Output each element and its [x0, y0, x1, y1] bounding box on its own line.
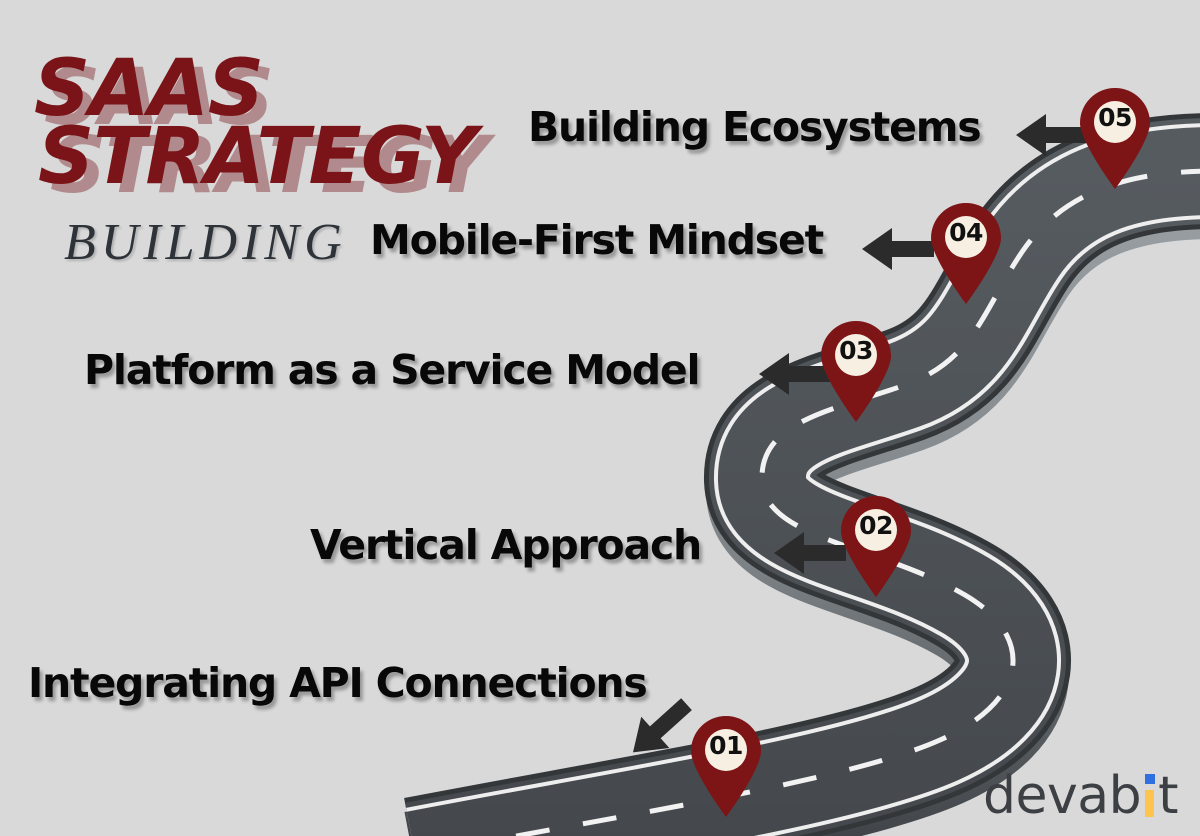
map-pin-shape-04: [928, 201, 1004, 305]
brand-stem-icon: [1145, 790, 1154, 817]
brand-text-after: t: [1158, 770, 1178, 822]
milestone-label-02: Vertical Approach: [310, 525, 701, 566]
milestone-label-04: Mobile-First Mindset: [370, 220, 823, 261]
title-subtitle: BUILDING: [64, 217, 347, 269]
brand-letter-i-icon: [1141, 770, 1158, 822]
map-pin-icon-03[interactable]: 03: [818, 319, 894, 423]
map-pin-shape-03: [818, 319, 894, 423]
map-pin-icon-05[interactable]: 05: [1077, 86, 1153, 190]
title-block: SAAS SAAS STRATEGY STRATEGY BUILDING: [28, 40, 498, 240]
map-pin-icon-04[interactable]: 04: [928, 201, 1004, 305]
milestone-label-05: Building Ecosystems: [528, 107, 981, 148]
brand-dot-icon: [1145, 774, 1155, 784]
map-pin-shape-01: [688, 714, 764, 818]
milestone-label-03: Platform as a Service Model: [84, 350, 699, 391]
map-pin-shape-05: [1077, 86, 1153, 190]
map-pin-icon-01[interactable]: 01: [688, 714, 764, 818]
title-line2: STRATEGY: [38, 118, 476, 196]
arrow-icon-04: [858, 226, 936, 272]
infographic-canvas: SAAS SAAS STRATEGY STRATEGY BUILDING Int…: [0, 0, 1200, 836]
milestone-label-01: Integrating API Connections: [28, 663, 647, 704]
arrow-icon-02: [770, 530, 848, 576]
brand-text-before: devab: [983, 770, 1141, 822]
brand-logo[interactable]: devab t: [983, 770, 1178, 822]
map-pin-shape-02: [838, 494, 914, 598]
map-pin-icon-02[interactable]: 02: [838, 494, 914, 598]
